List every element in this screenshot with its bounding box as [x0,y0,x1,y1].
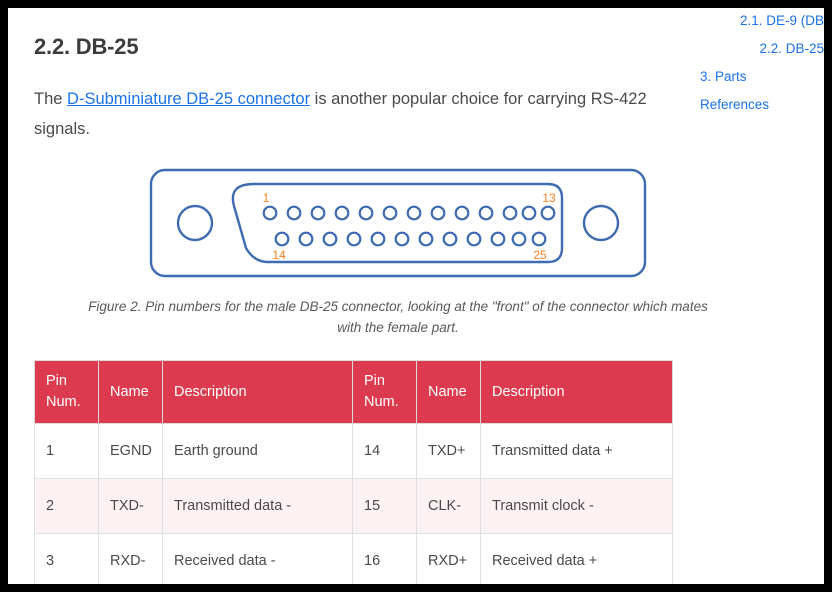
cell-description-2: Received data + [481,534,673,585]
page-title: 2.2. DB-25 [34,8,700,60]
cell-description: Transmitted data - [163,479,353,534]
col-header-pin-num-1: Pin Num. [35,361,99,424]
intro-paragraph: The D-Subminiature DB-25 connector is an… [34,60,674,144]
toc-link-db25[interactable]: 2.2. DB-25 [700,42,824,56]
cell-name-2: TXD+ [417,424,481,479]
cell-name: EGND [99,424,163,479]
pin-label-1: 1 [263,191,270,205]
col-header-name-1: Name [99,361,163,424]
cell-name-2: RXD+ [417,534,481,585]
page-viewport: 2.1. DE-9 (DB 2.2. DB-25 3. Parts Refere… [8,8,824,584]
col-header-name-2: Name [417,361,481,424]
pin-label-25: 25 [533,248,547,262]
cell-pin-num-2: 14 [353,424,417,479]
col-header-pin-num-2: Pin Num. [353,361,417,424]
col-header-description-2: Description [481,361,673,424]
main-content: 2.2. DB-25 The D-Subminiature DB-25 conn… [34,8,700,584]
figure-caption: Figure 2. Pin numbers for the male DB-25… [88,296,708,338]
db25-connector-figure: 1 13 14 25 Figure 2. Pin numbers for the… [74,166,722,338]
pin-label-13: 13 [542,191,556,205]
db25-connector-link[interactable]: D-Subminiature DB-25 connector [67,90,310,108]
cell-name: RXD- [99,534,163,585]
cell-description: Earth ground [163,424,353,479]
cell-pin-num-2: 16 [353,534,417,585]
cell-name: TXD- [99,479,163,534]
table-of-contents: 2.1. DE-9 (DB 2.2. DB-25 3. Parts Refere… [700,14,824,126]
table-row: 2 TXD- Transmitted data - 15 CLK- Transm… [35,479,673,534]
cell-pin-num: 1 [35,424,99,479]
table-row: 3 RXD- Received data - 16 RXD+ Received … [35,534,673,585]
cell-description-2: Transmit clock - [481,479,673,534]
pin-label-14: 14 [272,248,286,262]
pin-assignment-table: Pin Num. Name Description Pin Num. Name … [34,360,673,584]
screenshot-frame: 2.1. DE-9 (DB 2.2. DB-25 3. Parts Refere… [0,0,832,592]
cell-name-2: CLK- [417,479,481,534]
db25-connector-diagram: 1 13 14 25 [148,166,648,281]
table-row: 1 EGND Earth ground 14 TXD+ Transmitted … [35,424,673,479]
cell-pin-num-2: 15 [353,479,417,534]
table-header-row: Pin Num. Name Description Pin Num. Name … [35,361,673,424]
cell-description-2: Transmitted data + [481,424,673,479]
cell-pin-num: 3 [35,534,99,585]
toc-link-de9[interactable]: 2.1. DE-9 (DB [700,14,824,28]
col-header-description-1: Description [163,361,353,424]
toc-link-parts[interactable]: 3. Parts [700,70,824,84]
cell-description: Received data - [163,534,353,585]
cell-pin-num: 2 [35,479,99,534]
screw-hole-left-icon [178,206,212,240]
screw-hole-right-icon [584,206,618,240]
toc-link-references[interactable]: References [700,98,824,112]
intro-text-before: The [34,90,67,108]
